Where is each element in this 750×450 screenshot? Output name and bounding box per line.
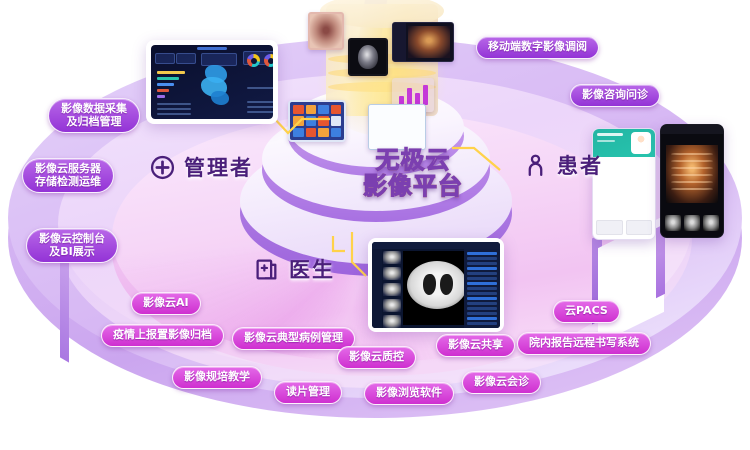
- platform-title-line2: 影像平台: [333, 174, 493, 200]
- xray-thumbnail-strip: [665, 215, 719, 231]
- bar-chart-bars: [399, 85, 428, 105]
- ct-viewer-inner: [372, 242, 500, 328]
- viewer-sidebar: [393, 23, 406, 61]
- role-admin-label: 管理者: [184, 152, 253, 182]
- patient-mobile-app: [592, 128, 656, 240]
- dashboard-bar-chart: [157, 71, 191, 97]
- platform-title: 无极云 影像平台: [333, 148, 493, 200]
- role-patient[interactable]: 患者: [523, 150, 603, 180]
- dashboard-title-bar: [197, 47, 226, 50]
- label-line2: 及归档管理: [61, 116, 127, 129]
- xray-mobile-viewer: [660, 124, 724, 238]
- tower-screen-endoscopy: [308, 12, 344, 50]
- label-image-cloud-qc[interactable]: 影像云质控: [337, 346, 416, 369]
- label-image-cloud-ai[interactable]: 影像云AI: [131, 292, 201, 315]
- label-image-cloud-server[interactable]: 影像云服务器 存储检测运维: [22, 158, 114, 193]
- label-imaging-training[interactable]: 影像规培教学: [172, 366, 262, 389]
- role-doctor-label: 医生: [289, 254, 335, 284]
- xray-toolbar: [661, 125, 723, 134]
- ct-lung-slice: [407, 261, 467, 309]
- label-line1: 影像云服务器: [35, 163, 101, 176]
- label-film-reading-management[interactable]: 读片管理: [274, 381, 342, 404]
- label-cloud-pacs[interactable]: 云PACS: [553, 300, 620, 323]
- person-icon: [523, 153, 548, 178]
- role-patient-label: 患者: [557, 150, 603, 180]
- label-image-cloud-consultation[interactable]: 影像云会诊: [462, 371, 541, 394]
- circle-plus-icon: [150, 155, 175, 180]
- dashboard-donut-2: [264, 54, 273, 67]
- label-line2: 及BI展示: [39, 246, 105, 259]
- disc-left-wedge-edge: [60, 247, 69, 362]
- app-tile-grid: [293, 105, 341, 137]
- label-typical-case-management[interactable]: 影像云典型病例管理: [232, 327, 355, 350]
- label-epidemic-report-archive[interactable]: 疫情上报置影像归档: [101, 324, 224, 347]
- tower-screen-viewer: [392, 22, 454, 62]
- doctor-avatar-illustration: [631, 132, 651, 154]
- dashboard-map: [197, 63, 241, 109]
- label-mobile-image-access[interactable]: 移动端数字影像调阅: [476, 36, 599, 59]
- infographic-canvas: 管理者 患者 医生 无极云 影像平台 影像数据采集 及归档管理 影像云服务器 存…: [0, 0, 750, 450]
- ct-tool-rail: [372, 249, 382, 328]
- dashboard-screen: [146, 40, 278, 124]
- label-in-hospital-remote-report[interactable]: 院内报告远程书写系统: [517, 332, 651, 355]
- dashboard-donut-1: [247, 54, 260, 67]
- platform-title-line1: 无极云: [333, 148, 493, 174]
- tower-screen-ultrasound: [348, 38, 388, 76]
- label-image-browsing-software[interactable]: 影像浏览软件: [364, 382, 454, 405]
- dashboard-inner: [151, 45, 273, 119]
- app-action-buttons[interactable]: [596, 220, 652, 235]
- app-report-card: [596, 160, 652, 166]
- tower-screen-report-table: [368, 104, 426, 150]
- label-image-consultation[interactable]: 影像咨询问诊: [570, 84, 660, 107]
- role-admin[interactable]: 管理者: [150, 152, 253, 182]
- ct-viewer-screen: [368, 238, 504, 332]
- label-image-cloud-sharing[interactable]: 影像云共享: [436, 334, 515, 357]
- ct-thumbnail-list: [383, 251, 401, 326]
- label-line1: 影像云控制台: [39, 233, 105, 246]
- dashboard-line-chart: [247, 75, 273, 93]
- tower-screen-app-tiles: [288, 100, 346, 142]
- role-doctor[interactable]: 医生: [255, 254, 335, 284]
- label-line1: 影像数据采集: [61, 103, 127, 116]
- label-image-cloud-console[interactable]: 影像云控制台 及BI展示: [26, 228, 118, 263]
- label-image-data-collection[interactable]: 影像数据采集 及归档管理: [48, 98, 140, 133]
- ct-image-canvas: [403, 251, 471, 325]
- rib-cage-lines: [671, 151, 713, 197]
- ct-report-panel: [464, 249, 500, 328]
- ct-toolbar: [372, 242, 500, 249]
- viewer-image: [408, 26, 450, 58]
- medical-record-icon: [255, 257, 280, 282]
- label-line2: 存储检测运维: [35, 176, 101, 189]
